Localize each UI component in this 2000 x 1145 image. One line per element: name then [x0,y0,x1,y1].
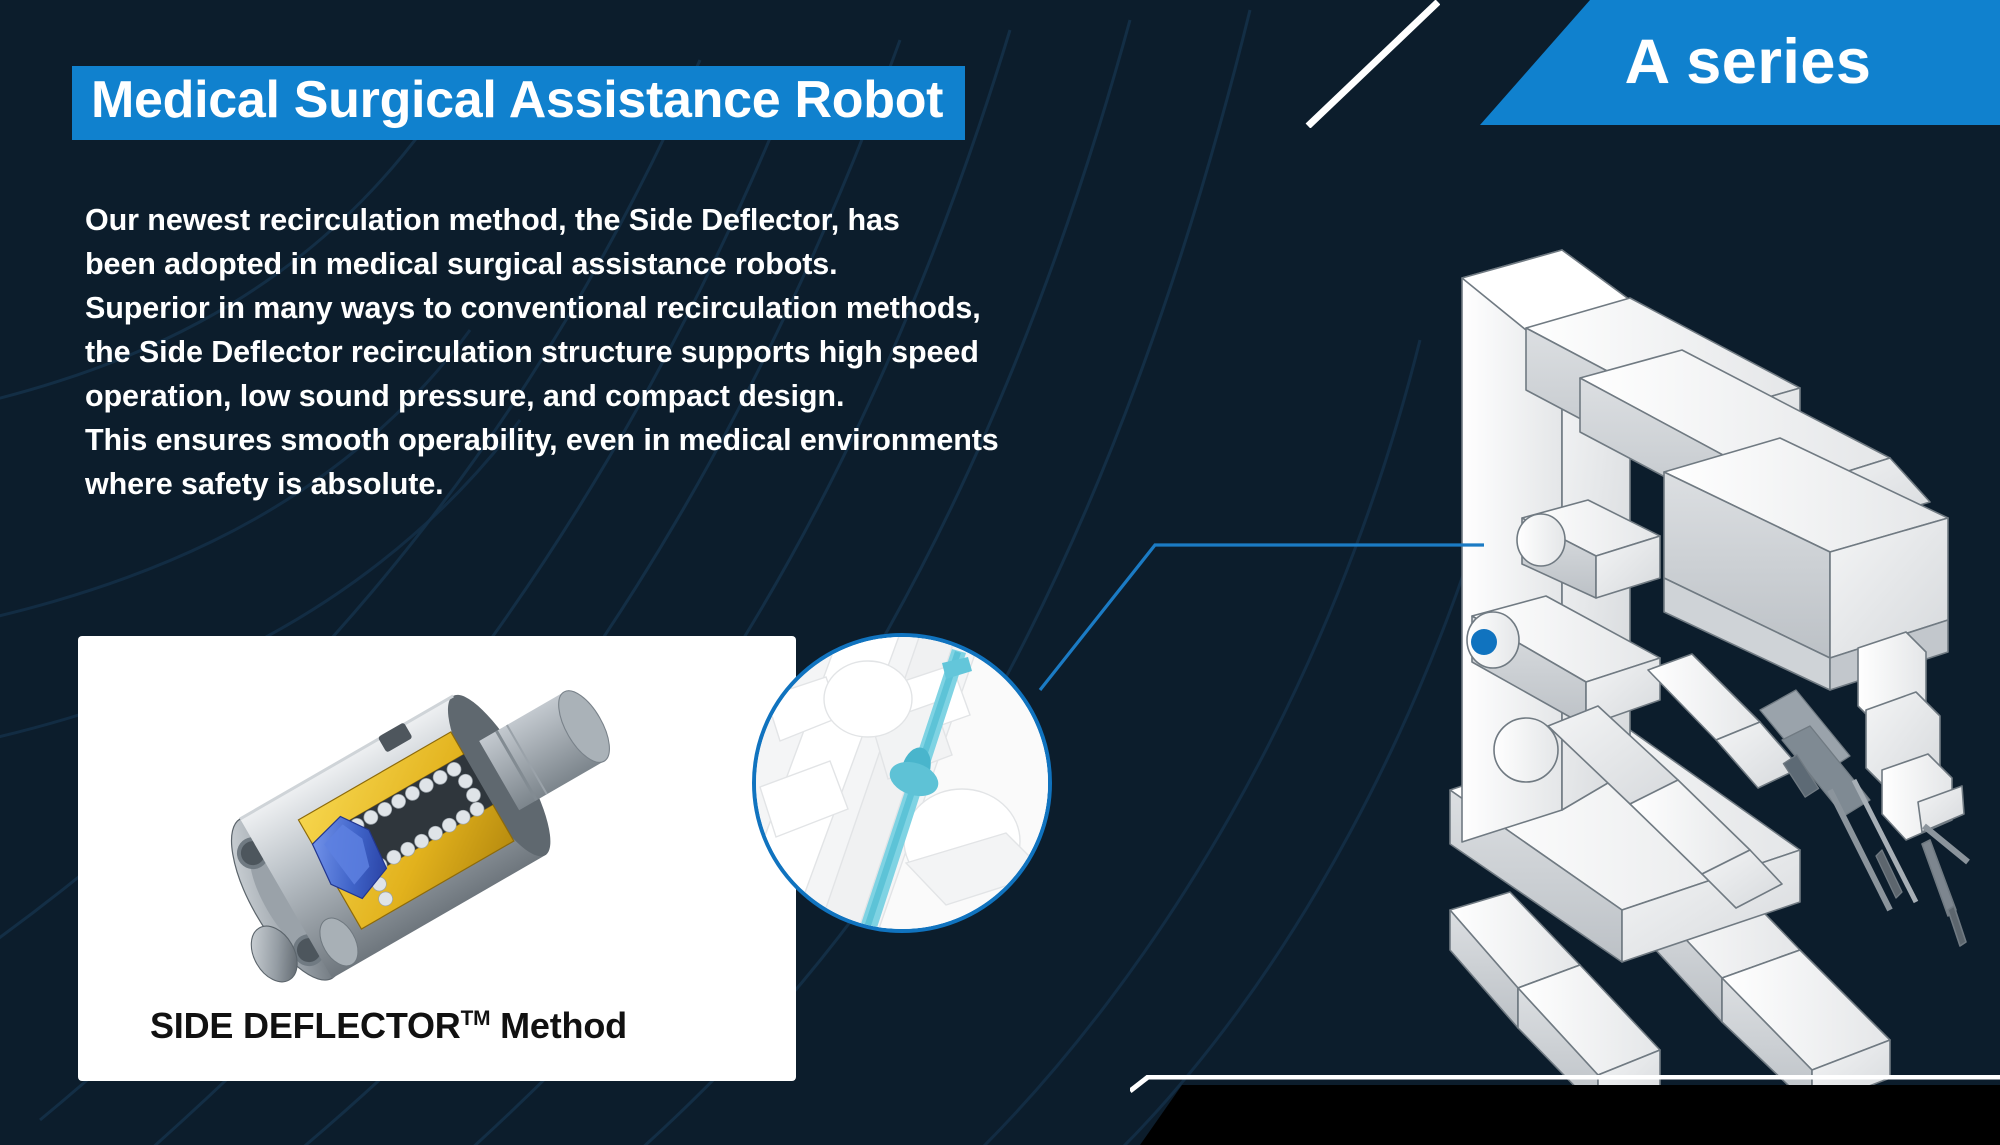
body-line-3: Superior in many ways to conventional re… [85,286,1205,330]
body-line-1: Our newest recirculation method, the Sid… [85,198,1205,242]
caption-main: SIDE DEFLECTOR [150,1005,461,1046]
magnifier-callout [752,633,1052,933]
product-card-caption: SIDE DEFLECTORTM Method [78,1005,796,1047]
bottom-accent-band [1140,1085,2000,1145]
caption-suffix: Method [490,1005,627,1046]
ball-screw-cutaway-illustration [138,654,698,984]
caption-trademark: TM [461,1007,491,1030]
series-badge: A series [1440,0,2000,125]
body-line-6: This ensures smooth operability, even in… [85,418,1205,462]
body-line-4: the Side Deflector recirculation structu… [85,330,1205,374]
surgical-robot-illustration [1330,150,1970,1110]
page-title: Medical Surgical Assistance Robot [91,73,943,128]
body-line-7: where safety is absolute. [85,462,1205,506]
product-card: SIDE DEFLECTORTM Method [78,636,796,1081]
series-badge-label: A series [1569,31,1872,94]
series-badge-edge-line [1270,0,1440,128]
page-title-bar: Medical Surgical Assistance Robot [72,66,965,140]
robot-callout-dot [1471,629,1497,655]
body-line-5: operation, low sound pressure, and compa… [85,374,1205,418]
body-copy: Our newest recirculation method, the Sid… [85,198,1205,506]
slide-canvas: A series Medical Surgical Assistance Rob… [0,0,2000,1145]
body-line-2: been adopted in medical surgical assista… [85,242,1205,286]
